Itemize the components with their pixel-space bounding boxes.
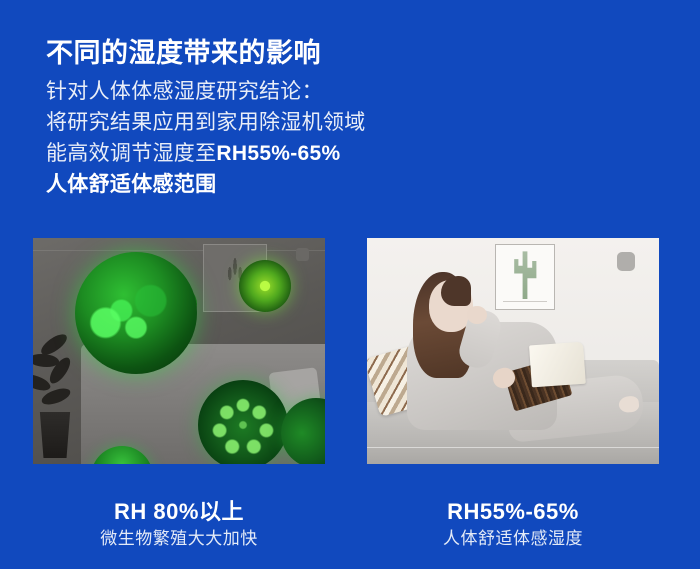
germ-icon: [239, 260, 291, 312]
book-page: [529, 342, 586, 388]
person-foot: [618, 395, 640, 413]
image-panel-comfort-humidity: [367, 238, 659, 464]
image-panel-high-humidity: [33, 238, 325, 464]
wall-device-icon: [617, 252, 635, 271]
slide-root: 不同的湿度带来的影响 针对人体体感湿度研究结论： 将研究结果应用到家用除湿机领域…: [0, 0, 700, 569]
body-copy-line-3: 能高效调节湿度至RH55%-65%: [46, 138, 366, 169]
caption-title: RH55%-65%: [367, 498, 659, 526]
body-copy-humidity-range: RH55%-65%: [216, 142, 340, 165]
body-copy-line-2: 将研究结果应用到家用除湿机领域: [46, 107, 366, 138]
body-copy-line-3-prefix: 能高效调节湿度至: [46, 142, 216, 165]
wall-device-icon: [296, 248, 309, 261]
body-copy: 针对人体体感湿度研究结论： 将研究结果应用到家用除湿机领域 能高效调节湿度至RH…: [46, 76, 366, 200]
cactus-icon: [510, 251, 540, 299]
body-copy-line-4: 人体舒适体感范围: [46, 169, 366, 200]
caption-title: RH 80%以上: [33, 498, 325, 526]
germ-icon: [198, 380, 288, 464]
body-copy-line-1: 针对人体体感湿度研究结论：: [46, 76, 366, 107]
person-hair-front: [441, 276, 471, 306]
wall-seam: [33, 250, 325, 251]
caption-subtitle: 人体舒适体感湿度: [367, 526, 659, 552]
page-title: 不同的湿度带来的影响: [46, 37, 321, 69]
sofa-seam: [367, 447, 659, 448]
caption-comfort-humidity: RH55%-65% 人体舒适体感湿度: [367, 498, 659, 552]
wall-art-baseline: [503, 301, 547, 302]
caption-subtitle: 微生物繁殖大大加快: [33, 526, 325, 552]
wall-art-frame: [495, 244, 555, 310]
person-hand: [467, 306, 487, 324]
caption-high-humidity: RH 80%以上 微生物繁殖大大加快: [33, 498, 325, 552]
scene-bright-living-room: [367, 238, 659, 464]
scene-dim-living-room: [33, 238, 325, 464]
germ-icon: [75, 252, 197, 374]
